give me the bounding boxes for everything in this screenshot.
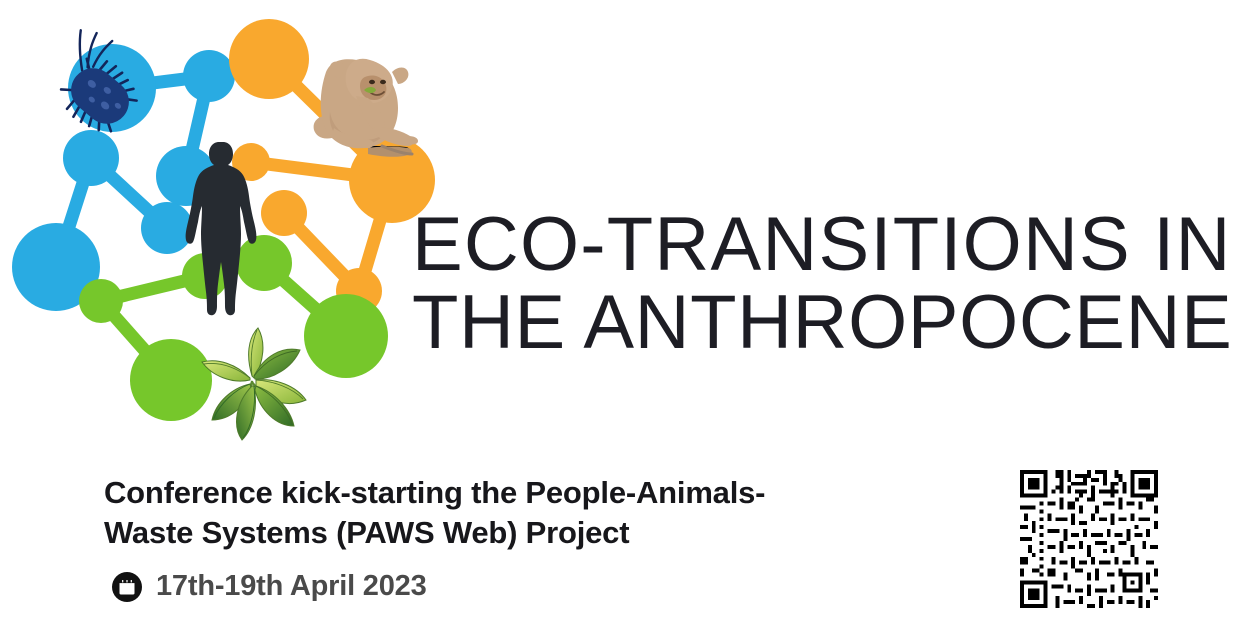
conference-banner: ECO-TRANSITIONS IN THE ANTHROPOCENE Conf… — [0, 0, 1237, 642]
network-illustration — [0, 0, 440, 470]
qr-code[interactable] — [1016, 464, 1162, 614]
monkey-icon — [314, 59, 418, 157]
title-line-2: THE ANTHROPOCENE — [412, 284, 1224, 362]
plant-icon — [202, 328, 306, 440]
calendar-icon — [112, 572, 142, 602]
subtitle: Conference kick-starting the People-Anim… — [104, 473, 974, 553]
date-text: 17th-19th April 2023 — [156, 570, 427, 603]
date-row: 17th-19th April 2023 — [112, 570, 427, 603]
subtitle-line-1: Conference kick-starting the People-Anim… — [104, 473, 974, 513]
subtitle-line-2: Waste Systems (PAWS Web) Project — [104, 513, 974, 553]
title-line-1: ECO-TRANSITIONS IN — [412, 206, 1224, 284]
page-title: ECO-TRANSITIONS IN THE ANTHROPOCENE — [412, 206, 1224, 362]
